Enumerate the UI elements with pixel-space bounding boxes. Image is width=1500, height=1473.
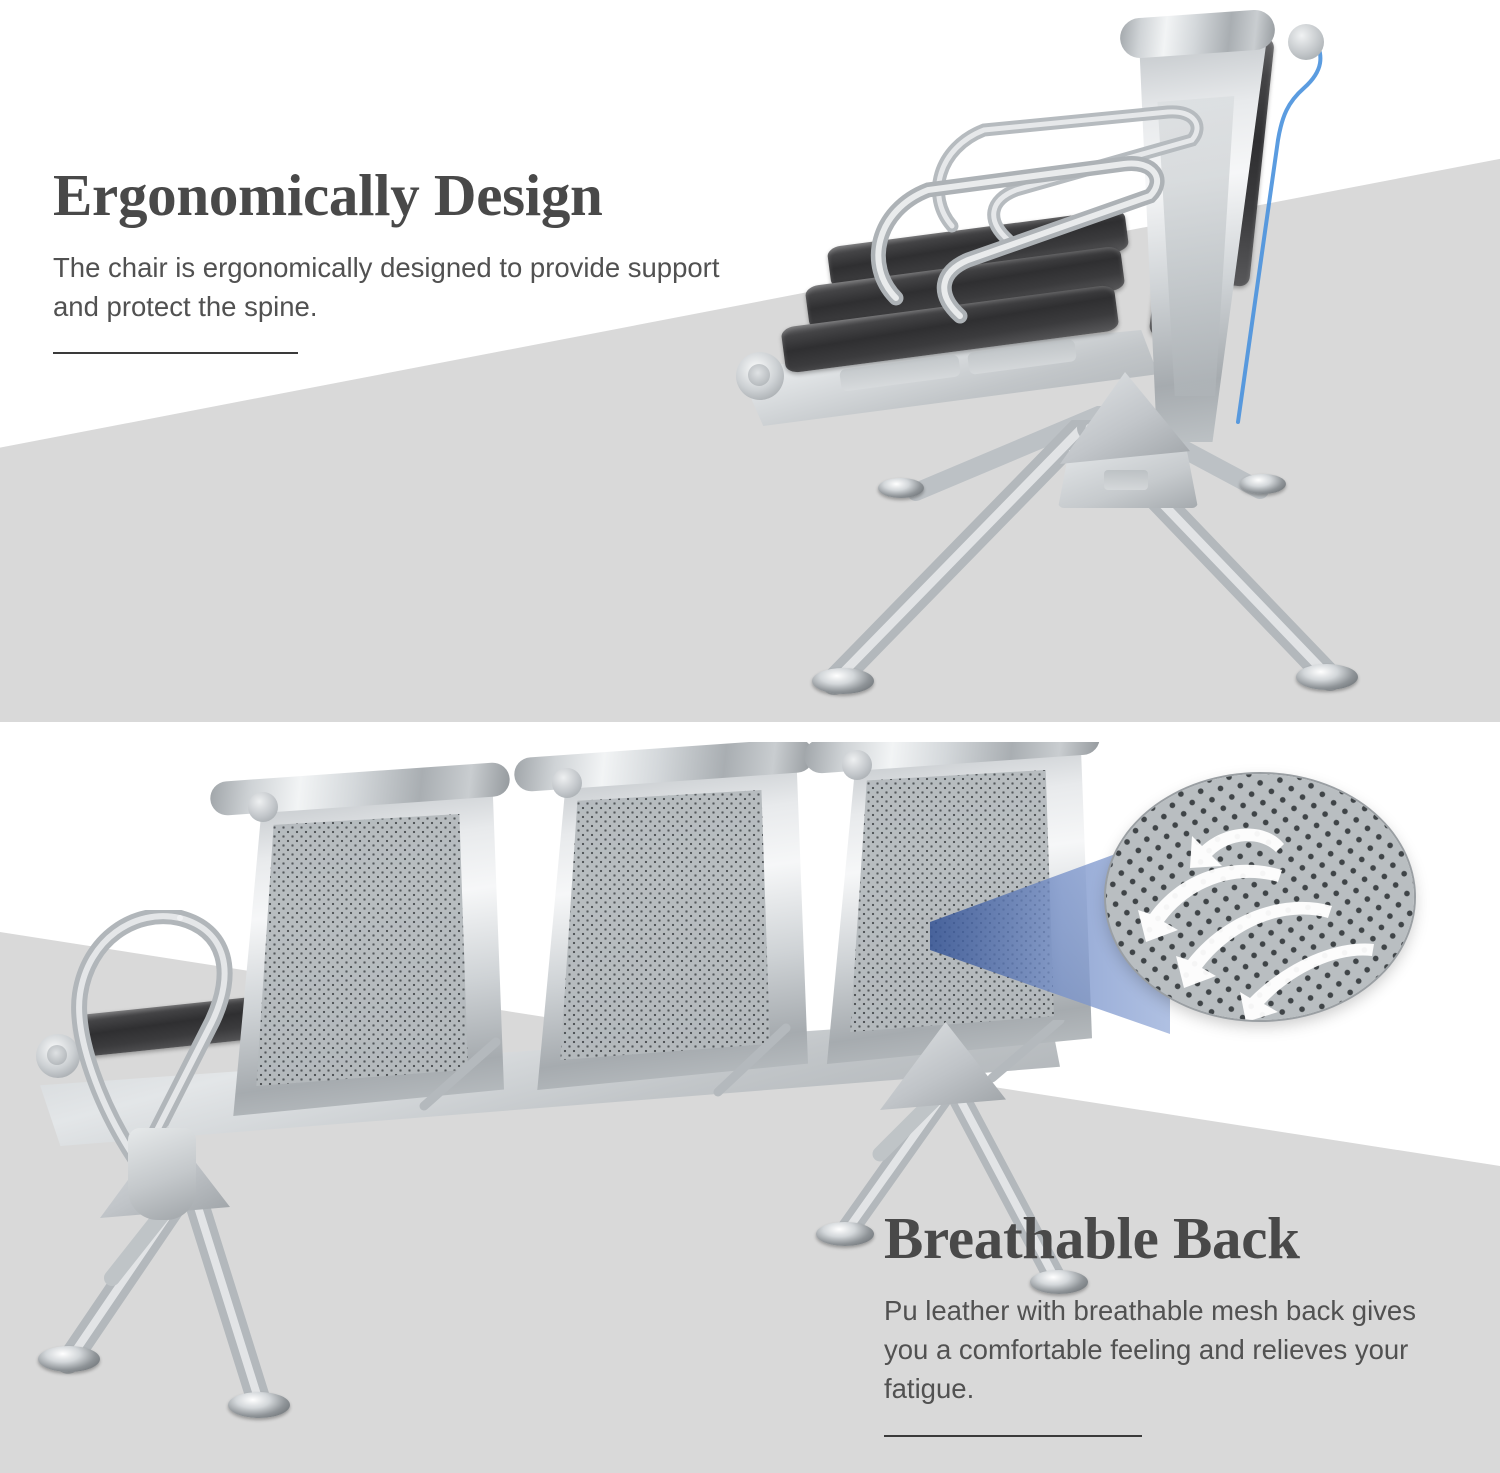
armrest-mount-plate bbox=[128, 1128, 196, 1220]
backrest-pivot-boss bbox=[1288, 24, 1324, 60]
panel-breathable-back: Breathable Back Pu leather with breathab… bbox=[0, 742, 1500, 1473]
backrest-3-boss bbox=[842, 750, 872, 780]
leg-plate-emboss bbox=[1104, 470, 1148, 490]
bench-leg-left bbox=[20, 1182, 360, 1452]
divider-rule-ergonomic bbox=[53, 352, 298, 354]
spine-curve-line-icon bbox=[1230, 20, 1370, 440]
feature-text-breathable: Breathable Back Pu leather with breathab… bbox=[884, 1208, 1444, 1437]
backrest-1-boss bbox=[248, 792, 278, 822]
backrest-2-boss bbox=[552, 768, 582, 798]
airflow-arrows-icon bbox=[1106, 774, 1414, 1020]
feature-text-ergonomic: Ergonomically Design The chair is ergono… bbox=[53, 165, 753, 354]
bench-glide-right-front bbox=[816, 1222, 874, 1246]
glide-front-right bbox=[1296, 664, 1358, 690]
glide-front-left bbox=[812, 668, 874, 694]
bench-glide-left-front bbox=[38, 1346, 100, 1372]
backrest-support-struts bbox=[400, 1020, 1100, 1130]
magnifier-circle bbox=[1106, 774, 1414, 1020]
product-feature-graphic: Ergonomically Design The chair is ergono… bbox=[0, 0, 1500, 1473]
glide-rear-left bbox=[878, 478, 924, 498]
armrest-front bbox=[856, 148, 1186, 398]
body-breathable: Pu leather with breathable mesh back giv… bbox=[884, 1291, 1444, 1408]
glide-rear-right bbox=[1240, 474, 1286, 494]
headline-ergonomic: Ergonomically Design bbox=[53, 165, 753, 226]
panel-ergonomic-design: Ergonomically Design The chair is ergono… bbox=[0, 0, 1500, 722]
headline-breathable: Breathable Back bbox=[884, 1208, 1444, 1269]
bench-glide-left-rear bbox=[228, 1392, 290, 1418]
divider-rule-breathable bbox=[884, 1435, 1142, 1437]
seat-beam-end-ring bbox=[748, 364, 770, 386]
body-ergonomic: The chair is ergonomically designed to p… bbox=[53, 248, 753, 326]
